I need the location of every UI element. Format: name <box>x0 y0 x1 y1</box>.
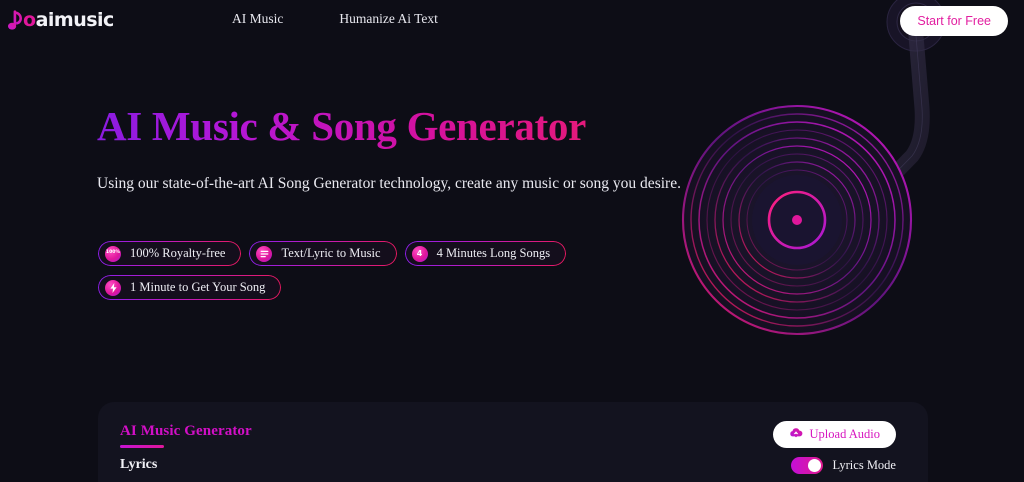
brand-logo[interactable]: o aimusic <box>8 7 114 33</box>
page-title: AI Music & Song Generator <box>97 103 697 150</box>
main-nav: AI Music Humanize Ai Text <box>232 11 438 27</box>
music-note-icon <box>8 8 25 32</box>
generator-title-underline <box>120 445 164 448</box>
badge-one-minute-to-get-song[interactable]: 1 Minute to Get Your Song <box>98 275 281 300</box>
lyrics-mode-toggle-row: Lyrics Mode <box>791 457 896 474</box>
upload-audio-label: Upload Audio <box>810 427 880 442</box>
badge-four-minutes-long-songs[interactable]: 4 4 Minutes Long Songs <box>405 241 567 266</box>
feature-badge-group: 100% 100% Royalty-free Text/Lyric to Mus… <box>98 241 698 309</box>
badge-royalty-free[interactable]: 100% 100% Royalty-free <box>98 241 241 266</box>
vinyl-record-artwork <box>672 0 1024 340</box>
start-for-free-button[interactable]: Start for Free <box>900 6 1008 36</box>
badge-label: 100% Royalty-free <box>130 246 225 261</box>
site-header: o aimusic AI Music Humanize Ai Text Star… <box>0 0 1024 40</box>
badge-label: Text/Lyric to Music <box>281 246 380 261</box>
lyrics-mode-toggle[interactable] <box>791 457 823 474</box>
royalty-percent-icon-text: 100% <box>106 251 120 256</box>
hero-subtitle: Using our state-of-the-art AI Song Gener… <box>97 171 683 196</box>
page-root: o aimusic AI Music Humanize Ai Text Star… <box>0 0 1024 482</box>
toggle-knob <box>808 459 821 472</box>
hero-section: AI Music & Song Generator Using our stat… <box>97 103 697 196</box>
upload-audio-button[interactable]: Upload Audio <box>773 421 896 448</box>
badge-label: 4 Minutes Long Songs <box>437 246 551 261</box>
badge-label: 1 Minute to Get Your Song <box>130 280 265 295</box>
royalty-percent-icon: 100% <box>105 246 121 262</box>
badge-row-1: 100% 100% Royalty-free Text/Lyric to Mus… <box>98 241 698 266</box>
badge-text-lyric-to-music[interactable]: Text/Lyric to Music <box>249 241 396 266</box>
lightning-bolt-icon <box>105 280 121 296</box>
generator-card-inner: AI Music Generator Lyrics <box>98 402 928 482</box>
nav-item-ai-music[interactable]: AI Music <box>232 11 283 27</box>
four-minutes-icon-text: 4 <box>417 250 423 258</box>
lyrics-field-label: Lyrics <box>120 457 157 473</box>
text-lines-icon <box>256 246 272 262</box>
logo-text-main: aimusic <box>36 8 114 32</box>
ai-music-generator-card: AI Music Generator Lyrics <box>98 402 928 482</box>
generator-title: AI Music Generator <box>120 423 252 440</box>
four-minutes-icon: 4 <box>412 246 428 262</box>
badge-row-2: 1 Minute to Get Your Song <box>98 275 698 300</box>
lyrics-mode-label: Lyrics Mode <box>832 458 896 473</box>
nav-item-humanize-ai-text[interactable]: Humanize Ai Text <box>339 11 438 27</box>
cloud-upload-icon <box>789 427 803 442</box>
